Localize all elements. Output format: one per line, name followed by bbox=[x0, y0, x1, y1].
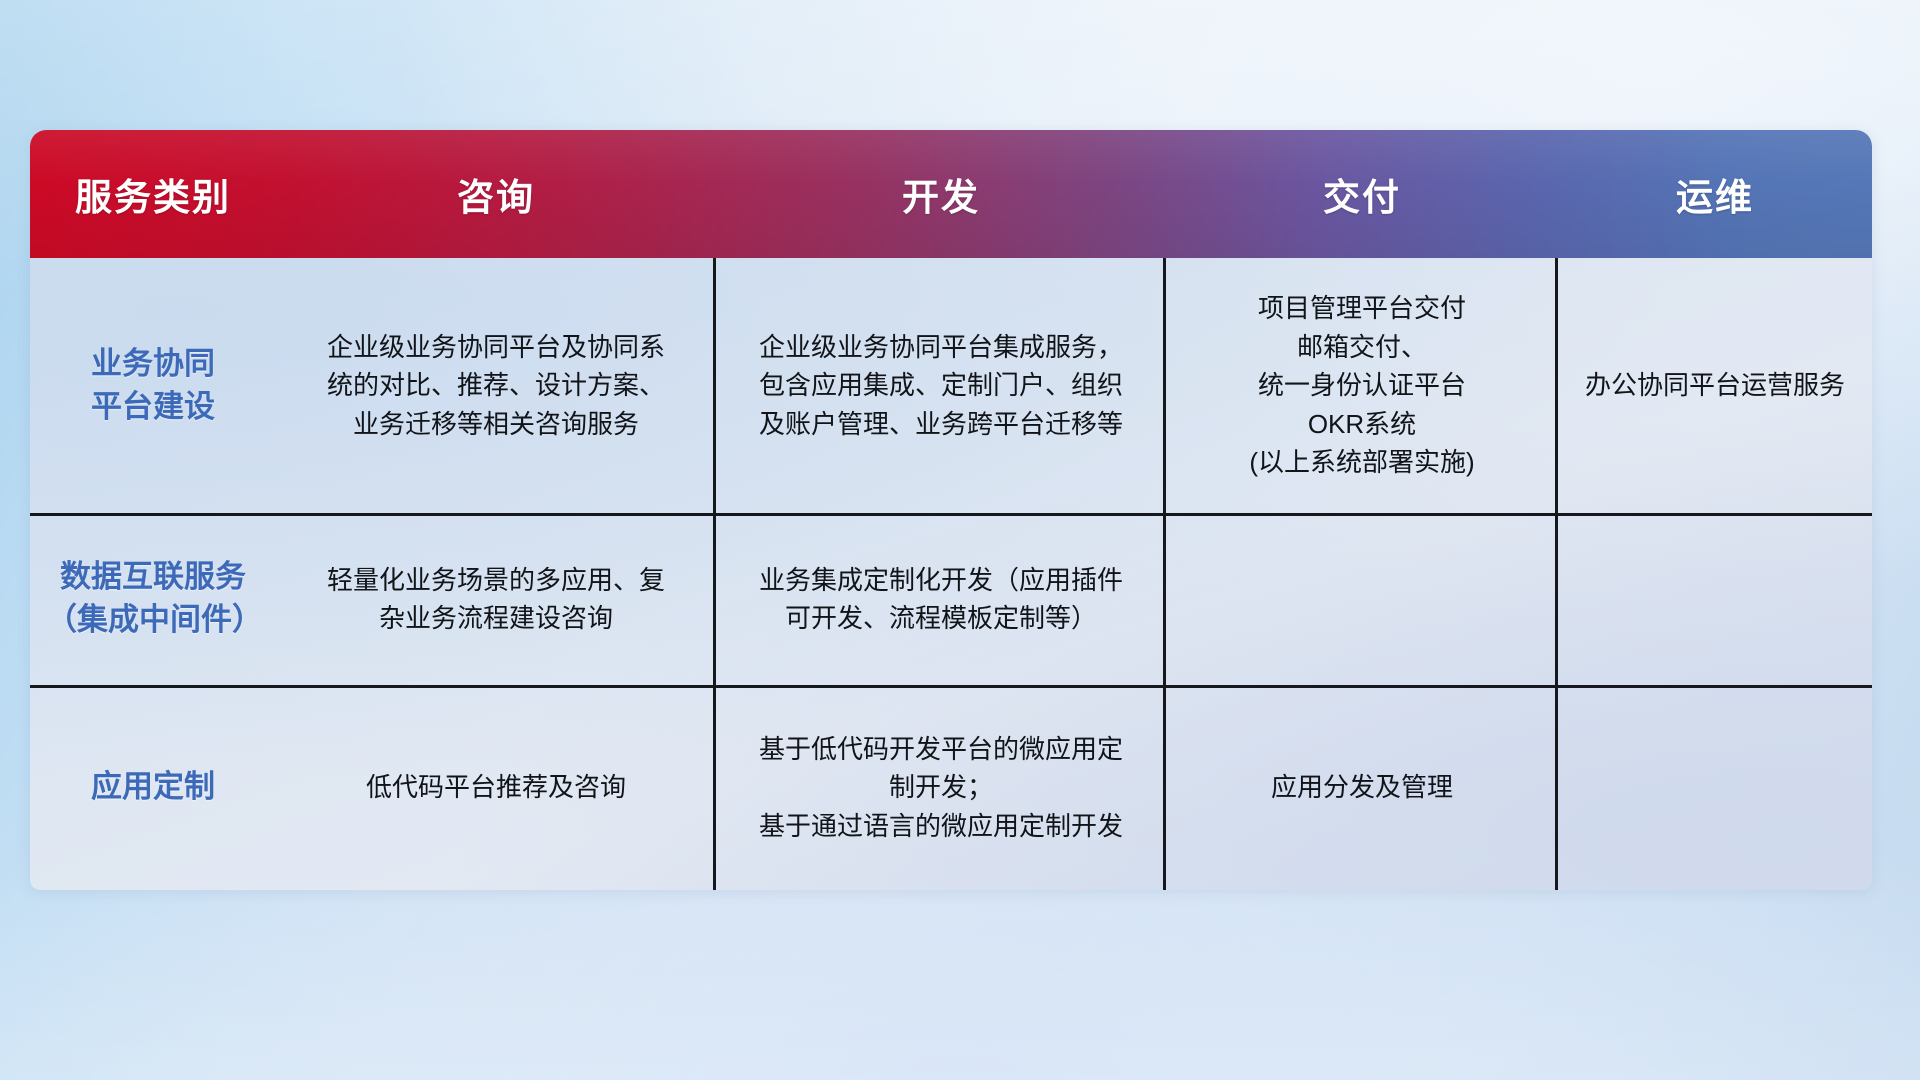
table-row: 应用定制 低代码平台推荐及咨询 基于低代码开发平台的微应用定 制开发； 基于通过… bbox=[30, 685, 1872, 890]
cell-text: 项目管理平台交付 邮箱交付、 统一身份认证平台 OKR系统 (以上系统部署实施) bbox=[1249, 289, 1474, 481]
cell-text: 应用分发及管理 bbox=[1271, 768, 1453, 806]
cell-consulting: 企业级业务协同平台及协同系 统的对比、推荐、设计方案、 业务迁移等相关咨询服务 bbox=[276, 258, 716, 513]
column-header-consulting[interactable]: 咨询 bbox=[276, 130, 716, 258]
column-header-development[interactable]: 开发 bbox=[716, 130, 1166, 258]
cell-text: 基于低代码开发平台的微应用定 制开发； 基于通过语言的微应用定制开发 bbox=[759, 730, 1123, 845]
cell-text: 企业级业务协同平台及协同系 统的对比、推荐、设计方案、 业务迁移等相关咨询服务 bbox=[327, 328, 665, 443]
cell-operations: 办公协同平台运营服务 bbox=[1558, 258, 1872, 513]
row-category-label: 数据互联服务 （集成中间件） bbox=[46, 556, 260, 642]
service-matrix-table: 服务类别 咨询 开发 交付 运维 业务协同 平台建设 企业级业务协同平台及协同系… bbox=[30, 130, 1872, 890]
column-header-operations[interactable]: 运维 bbox=[1558, 130, 1872, 258]
row-category-cell: 业务协同 平台建设 bbox=[30, 258, 276, 513]
cell-development: 基于低代码开发平台的微应用定 制开发； 基于通过语言的微应用定制开发 bbox=[716, 685, 1166, 890]
cell-delivery: 应用分发及管理 bbox=[1166, 685, 1558, 890]
cell-delivery bbox=[1166, 513, 1558, 685]
column-header-category[interactable]: 服务类别 bbox=[30, 130, 276, 258]
cell-text: 低代码平台推荐及咨询 bbox=[366, 768, 626, 806]
cell-text: 业务集成定制化开发（应用插件 可开发、流程模板定制等） bbox=[759, 561, 1123, 638]
cell-text: 轻量化业务场景的多应用、复 杂业务流程建设咨询 bbox=[327, 561, 665, 638]
table-row: 业务协同 平台建设 企业级业务协同平台及协同系 统的对比、推荐、设计方案、 业务… bbox=[30, 258, 1872, 513]
column-header-delivery[interactable]: 交付 bbox=[1166, 130, 1558, 258]
cell-development: 业务集成定制化开发（应用插件 可开发、流程模板定制等） bbox=[716, 513, 1166, 685]
cell-consulting: 轻量化业务场景的多应用、复 杂业务流程建设咨询 bbox=[276, 513, 716, 685]
cell-consulting: 低代码平台推荐及咨询 bbox=[276, 685, 716, 890]
cell-text: 办公协同平台运营服务 bbox=[1585, 366, 1845, 404]
cell-development: 企业级业务协同平台集成服务， 包含应用集成、定制门户、组织 及账户管理、业务跨平… bbox=[716, 258, 1166, 513]
table-body: 业务协同 平台建设 企业级业务协同平台及协同系 统的对比、推荐、设计方案、 业务… bbox=[30, 258, 1872, 890]
cell-operations bbox=[1558, 513, 1872, 685]
row-category-label: 应用定制 bbox=[91, 766, 215, 809]
row-category-cell: 应用定制 bbox=[30, 685, 276, 890]
table-header-row: 服务类别 咨询 开发 交付 运维 bbox=[30, 130, 1872, 258]
row-category-label: 业务协同 平台建设 bbox=[91, 343, 215, 429]
cell-text: 企业级业务协同平台集成服务， 包含应用集成、定制门户、组织 及账户管理、业务跨平… bbox=[759, 328, 1123, 443]
table-row: 数据互联服务 （集成中间件） 轻量化业务场景的多应用、复 杂业务流程建设咨询 业… bbox=[30, 513, 1872, 685]
cell-operations bbox=[1558, 685, 1872, 890]
cell-delivery: 项目管理平台交付 邮箱交付、 统一身份认证平台 OKR系统 (以上系统部署实施) bbox=[1166, 258, 1558, 513]
row-category-cell: 数据互联服务 （集成中间件） bbox=[30, 513, 276, 685]
